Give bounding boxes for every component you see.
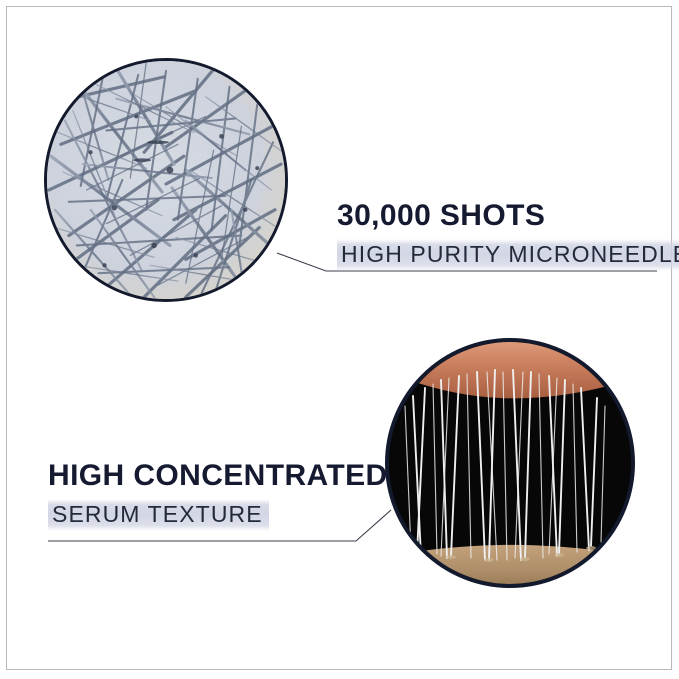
callout-bottom-headline: HIGH CONCENTRATED [48, 459, 368, 493]
callout-top-subline-wrap: HIGH PURITY MICRONEEDLE [337, 239, 679, 272]
infographic-canvas: 30,000 SHOTS HIGH PURITY MICRONEEDLE HIG… [0, 0, 679, 679]
callout-high-purity-microneedle: 30,000 SHOTS HIGH PURITY MICRONEEDLE [337, 199, 667, 271]
image-microneedle-patch-cross-section [385, 338, 635, 588]
image-needle-crystals-micrograph [44, 58, 288, 302]
callout-top-headline: 30,000 SHOTS [337, 199, 667, 233]
callout-bottom-subline: SERUM TEXTURE [48, 499, 269, 532]
needle-crystals-artwork [47, 61, 285, 299]
patch-cross-section-artwork [389, 342, 631, 584]
callout-serum-texture: HIGH CONCENTRATED SERUM TEXTURE [48, 459, 368, 531]
callout-bottom-subline-wrap: SERUM TEXTURE [48, 499, 269, 532]
callout-top-subline: HIGH PURITY MICRONEEDLE [337, 239, 679, 272]
